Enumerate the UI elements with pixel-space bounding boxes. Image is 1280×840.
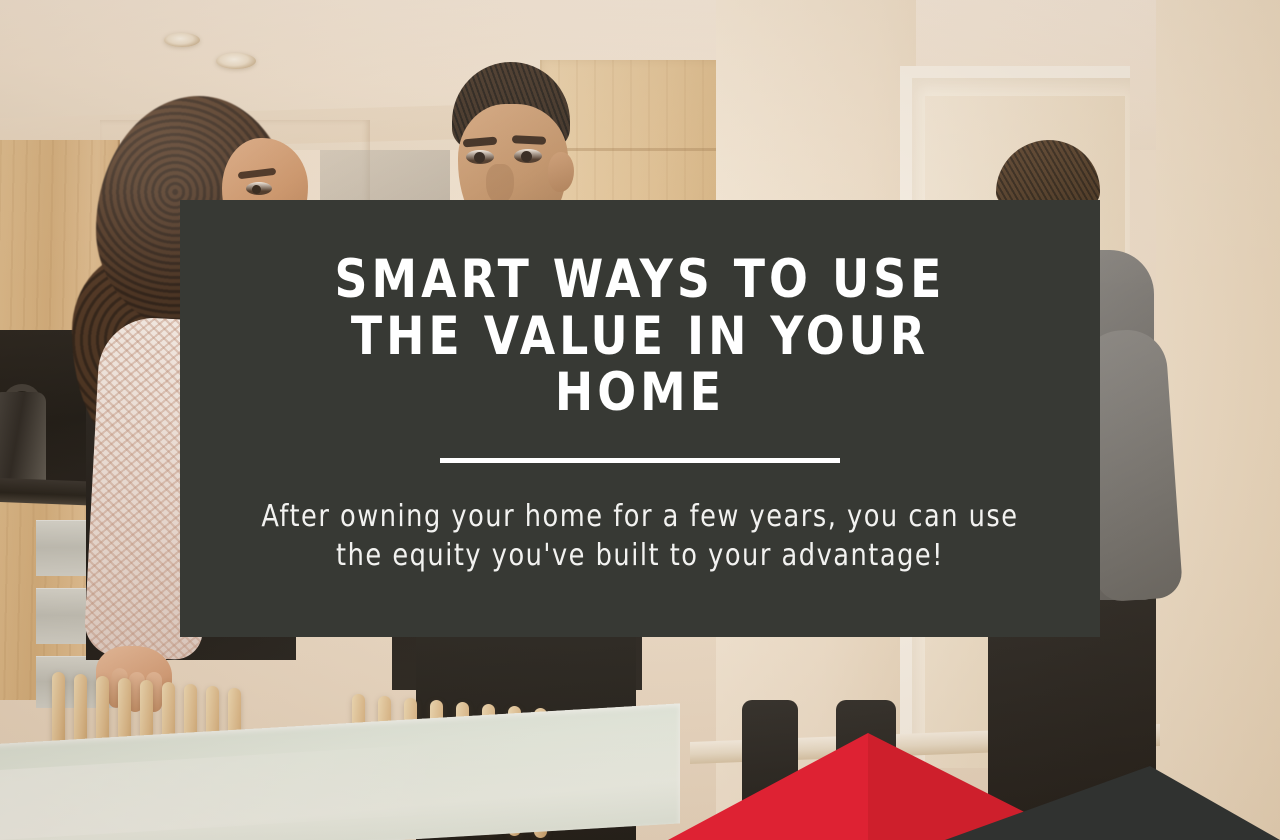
marketing-graphic: Smart Ways To Use The Value In Your Home… [0, 0, 1280, 840]
text-overlay-panel: Smart Ways To Use The Value In Your Home… [180, 200, 1100, 637]
title-divider [440, 458, 840, 463]
subtitle-text: After owning your home for a few years, … [258, 497, 1022, 575]
page-title: Smart Ways To Use The Value In Your Home [275, 252, 1005, 422]
